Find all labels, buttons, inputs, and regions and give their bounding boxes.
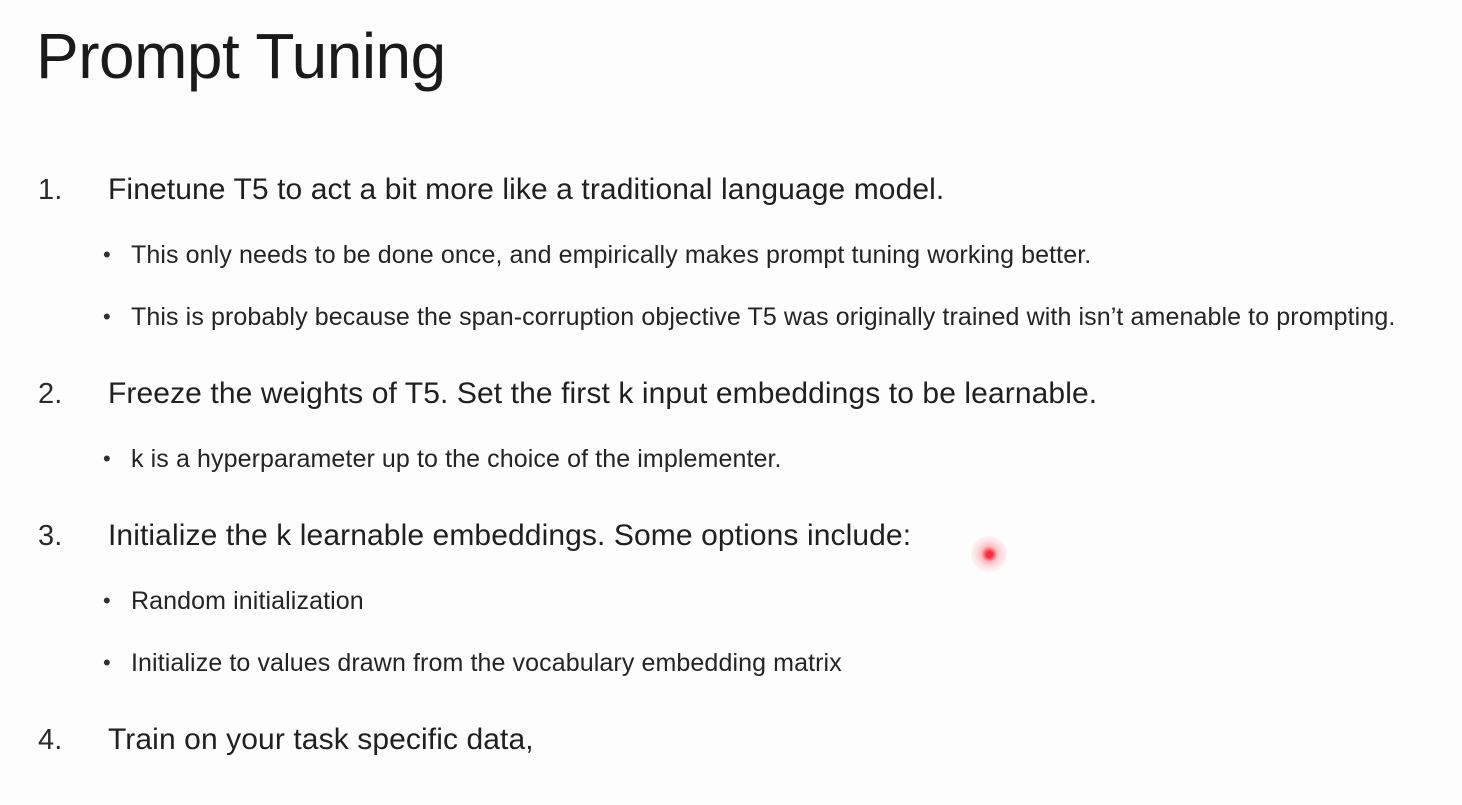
bullet-icon: • <box>103 230 111 280</box>
list-item-text: Freeze the weights of T5. Set the first … <box>108 372 1448 416</box>
bullet-icon: • <box>103 638 111 688</box>
list-item-text: This only needs to be done once, and emp… <box>131 230 1448 280</box>
bullet-icon: • <box>103 576 111 626</box>
list-item: • This is probably because the span-corr… <box>0 292 1462 342</box>
list-item: 1. Finetune T5 to act a bit more like a … <box>0 168 1462 212</box>
bullet-icon: • <box>103 292 111 342</box>
list-item: 2. Freeze the weights of T5. Set the fir… <box>0 372 1462 416</box>
spacer <box>0 416 1462 434</box>
list-item: • This only needs to be done once, and e… <box>0 230 1462 280</box>
list-item-text: Initialize the k learnable embeddings. S… <box>108 514 1448 558</box>
spacer <box>0 484 1462 514</box>
list-item-text: Finetune T5 to act a bit more like a tra… <box>108 168 1448 212</box>
slide-body-list: 1. Finetune T5 to act a bit more like a … <box>0 168 1462 762</box>
list-item-number: 2. <box>38 372 94 416</box>
list-item: • k is a hyperparameter up to the choice… <box>0 434 1462 484</box>
list-item-number: 3. <box>38 514 94 558</box>
presentation-slide: Prompt Tuning 1. Finetune T5 to act a bi… <box>0 0 1462 805</box>
list-item-text: Initialize to values drawn from the voca… <box>131 638 1448 688</box>
list-item: 3. Initialize the k learnable embeddings… <box>0 514 1462 558</box>
spacer <box>0 280 1462 292</box>
spacer <box>0 688 1462 718</box>
spacer <box>0 558 1462 576</box>
list-item: • Initialize to values drawn from the vo… <box>0 638 1462 688</box>
list-item-text: k is a hyperparameter up to the choice o… <box>131 434 1448 484</box>
spacer <box>0 212 1462 230</box>
list-item-number: 4. <box>38 718 94 762</box>
list-item-text: Random initialization <box>131 576 1448 626</box>
list-item-text: Train on your task specific data, <box>108 718 1448 762</box>
spacer <box>0 626 1462 638</box>
list-item-text: This is probably because the span-corrup… <box>131 292 1448 342</box>
spacer <box>0 342 1462 372</box>
bullet-icon: • <box>103 434 111 484</box>
list-item-number: 1. <box>38 168 94 212</box>
list-item: • Random initialization <box>0 576 1462 626</box>
page-title: Prompt Tuning <box>36 16 446 96</box>
list-item: 4. Train on your task specific data, <box>0 718 1462 762</box>
